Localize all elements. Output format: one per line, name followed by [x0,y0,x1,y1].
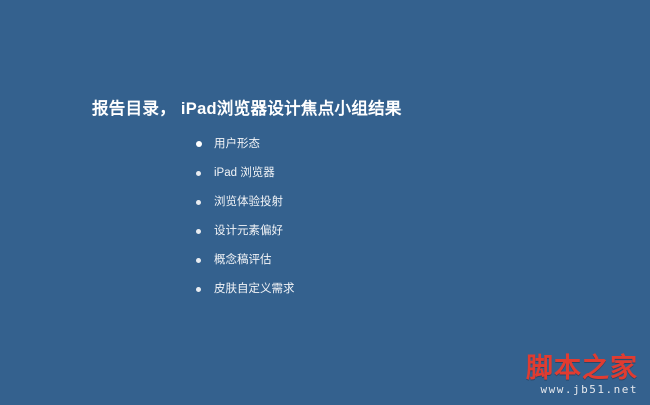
list-item: 概念稿评估 [196,246,295,275]
list-item: iPad 浏览器 [196,159,295,188]
list-item: 浏览体验投射 [196,188,295,217]
list-item-label: 概念稿评估 [214,246,272,275]
presentation-slide: 报告目录， iPad浏览器设计焦点小组结果 用户形态 iPad 浏览器 浏览体验… [0,0,650,405]
bullet-dot-icon [196,200,201,205]
list-item-label: 用户形态 [214,130,260,159]
bullet-dot-icon [196,171,201,176]
list-item-label: 设计元素偏好 [214,217,283,246]
bullet-dot-icon [196,229,201,234]
list-item: 用户形态 [196,130,295,159]
watermark: 脚本之家 www.jb51.net [526,353,638,397]
list-item: 设计元素偏好 [196,217,295,246]
bullet-dot-icon [196,287,201,292]
page-title: 报告目录， iPad浏览器设计焦点小组结果 [92,95,402,119]
agenda-list: 用户形态 iPad 浏览器 浏览体验投射 设计元素偏好 概念稿评估 皮肤自定义需… [196,130,295,304]
list-item-label: iPad 浏览器 [214,159,275,188]
bullet-dot-icon [196,258,201,263]
bullet-dot-icon [196,141,202,147]
watermark-site-url: www.jb51.net [526,383,638,397]
list-item: 皮肤自定义需求 [196,275,295,304]
list-item-label: 浏览体验投射 [214,188,283,217]
watermark-site-name: 脚本之家 [526,353,638,383]
list-item-label: 皮肤自定义需求 [214,275,295,304]
